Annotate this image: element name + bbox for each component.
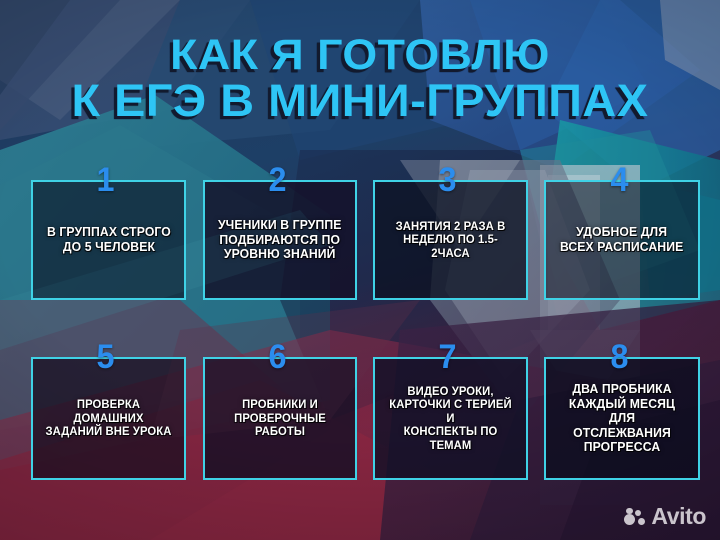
- card-number-8: 8: [610, 340, 628, 374]
- card-number-6: 6: [268, 340, 286, 374]
- card-number-1: 1: [96, 163, 114, 197]
- avito-watermark: Avito: [624, 505, 706, 528]
- avito-wordmark: Avito: [651, 505, 706, 528]
- feature-card-5-text: ПРОВЕРКА ДОМАШНИХ ЗАДАНИЙ ВНЕ УРОКА: [38, 398, 180, 438]
- feature-card-4-text: УДОБНОЕ ДЛЯ ВСЕХ РАСПИСАНИЕ: [555, 225, 690, 254]
- feature-card-6-text: ПРОБНИКИ И ПРОВЕРОЧНЫЕ РАБОТЫ: [210, 398, 351, 438]
- feature-card-1-text: В ГРУППАХ СТРОГО ДО 5 ЧЕЛОВЕК: [41, 225, 176, 254]
- poster-canvas: КАК Я ГОТОВЛЮ К ЕГЭ В МИНИ-ГРУППАХ 1 В Г…: [0, 0, 720, 540]
- feature-card-2-text: УЧЕНИКИ В ГРУППЕ ПОДБИРАЮТСЯ ПО УРОВНЮ З…: [213, 218, 348, 262]
- card-number-3: 3: [438, 163, 456, 197]
- card-number-5: 5: [96, 340, 114, 374]
- title-line-2: К ЕГЭ В МИНИ-ГРУППАХ: [0, 79, 720, 123]
- poster-title: КАК Я ГОТОВЛЮ К ЕГЭ В МИНИ-ГРУППАХ: [0, 34, 720, 123]
- card-number-7: 7: [438, 340, 456, 374]
- feature-card-3-text: ЗАНЯТИЯ 2 РАЗА В НЕДЕЛЮ ПО 1.5-2ЧАСА: [380, 220, 522, 260]
- feature-card-8-text: ДВА ПРОБНИКА КАЖДЫЙ МЕСЯЦ ДЛЯ ОТСЛЕЖВАНИ…: [551, 382, 694, 455]
- title-line-1: КАК Я ГОТОВЛЮ: [0, 34, 720, 76]
- card-number-4: 4: [610, 163, 628, 197]
- card-number-2: 2: [268, 163, 286, 197]
- avito-dots-icon: [624, 507, 646, 527]
- feature-card-7-text: ВИДЕО УРОКИ, КАРТОЧКИ С ТЕРИЕЙ И КОНСПЕК…: [380, 385, 522, 452]
